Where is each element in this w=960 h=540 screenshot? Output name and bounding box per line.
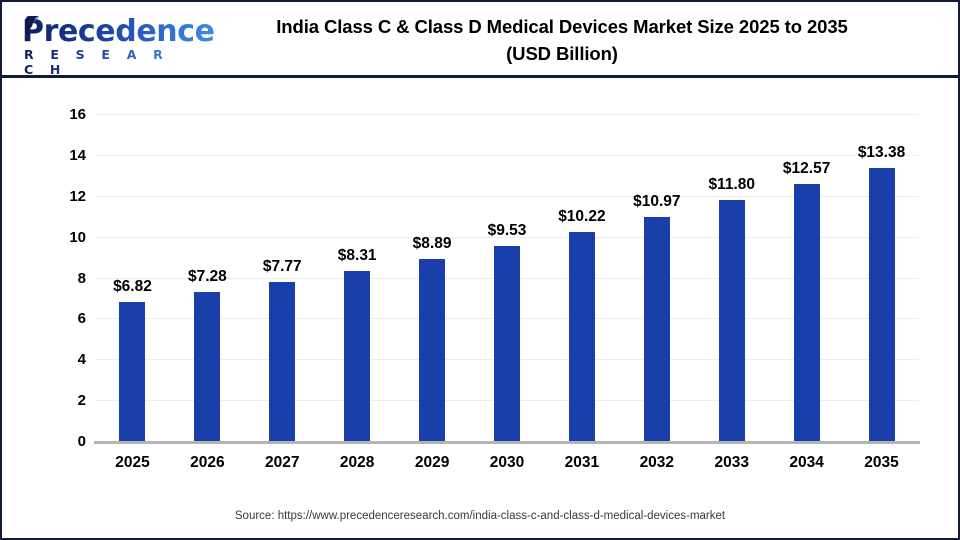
precedence-leaf-mark [24,15,42,37]
y-axis-labels: 0246810121416 [42,114,86,441]
x-axis-tick-label: 2035 [837,454,927,471]
y-axis-tick-label: 4 [42,352,86,367]
y-axis-tick-label: 8 [42,271,86,286]
x-axis-labels: 2025202620272028202920302031203220332034… [95,2,919,540]
y-axis-tick-label: 10 [42,230,86,245]
y-axis-tick-label: 0 [42,434,86,449]
source-note: Source: https://www.precedenceresearch.c… [2,510,958,522]
y-axis-tick-label: 14 [42,148,86,163]
y-axis-tick-label: 16 [42,107,86,122]
y-axis-tick-label: 2 [42,393,86,408]
y-axis-tick-label: 12 [42,189,86,204]
y-axis-tick-label: 6 [42,311,86,326]
chart-figure: Precedence R E S E A R C H India Class C… [0,0,960,540]
